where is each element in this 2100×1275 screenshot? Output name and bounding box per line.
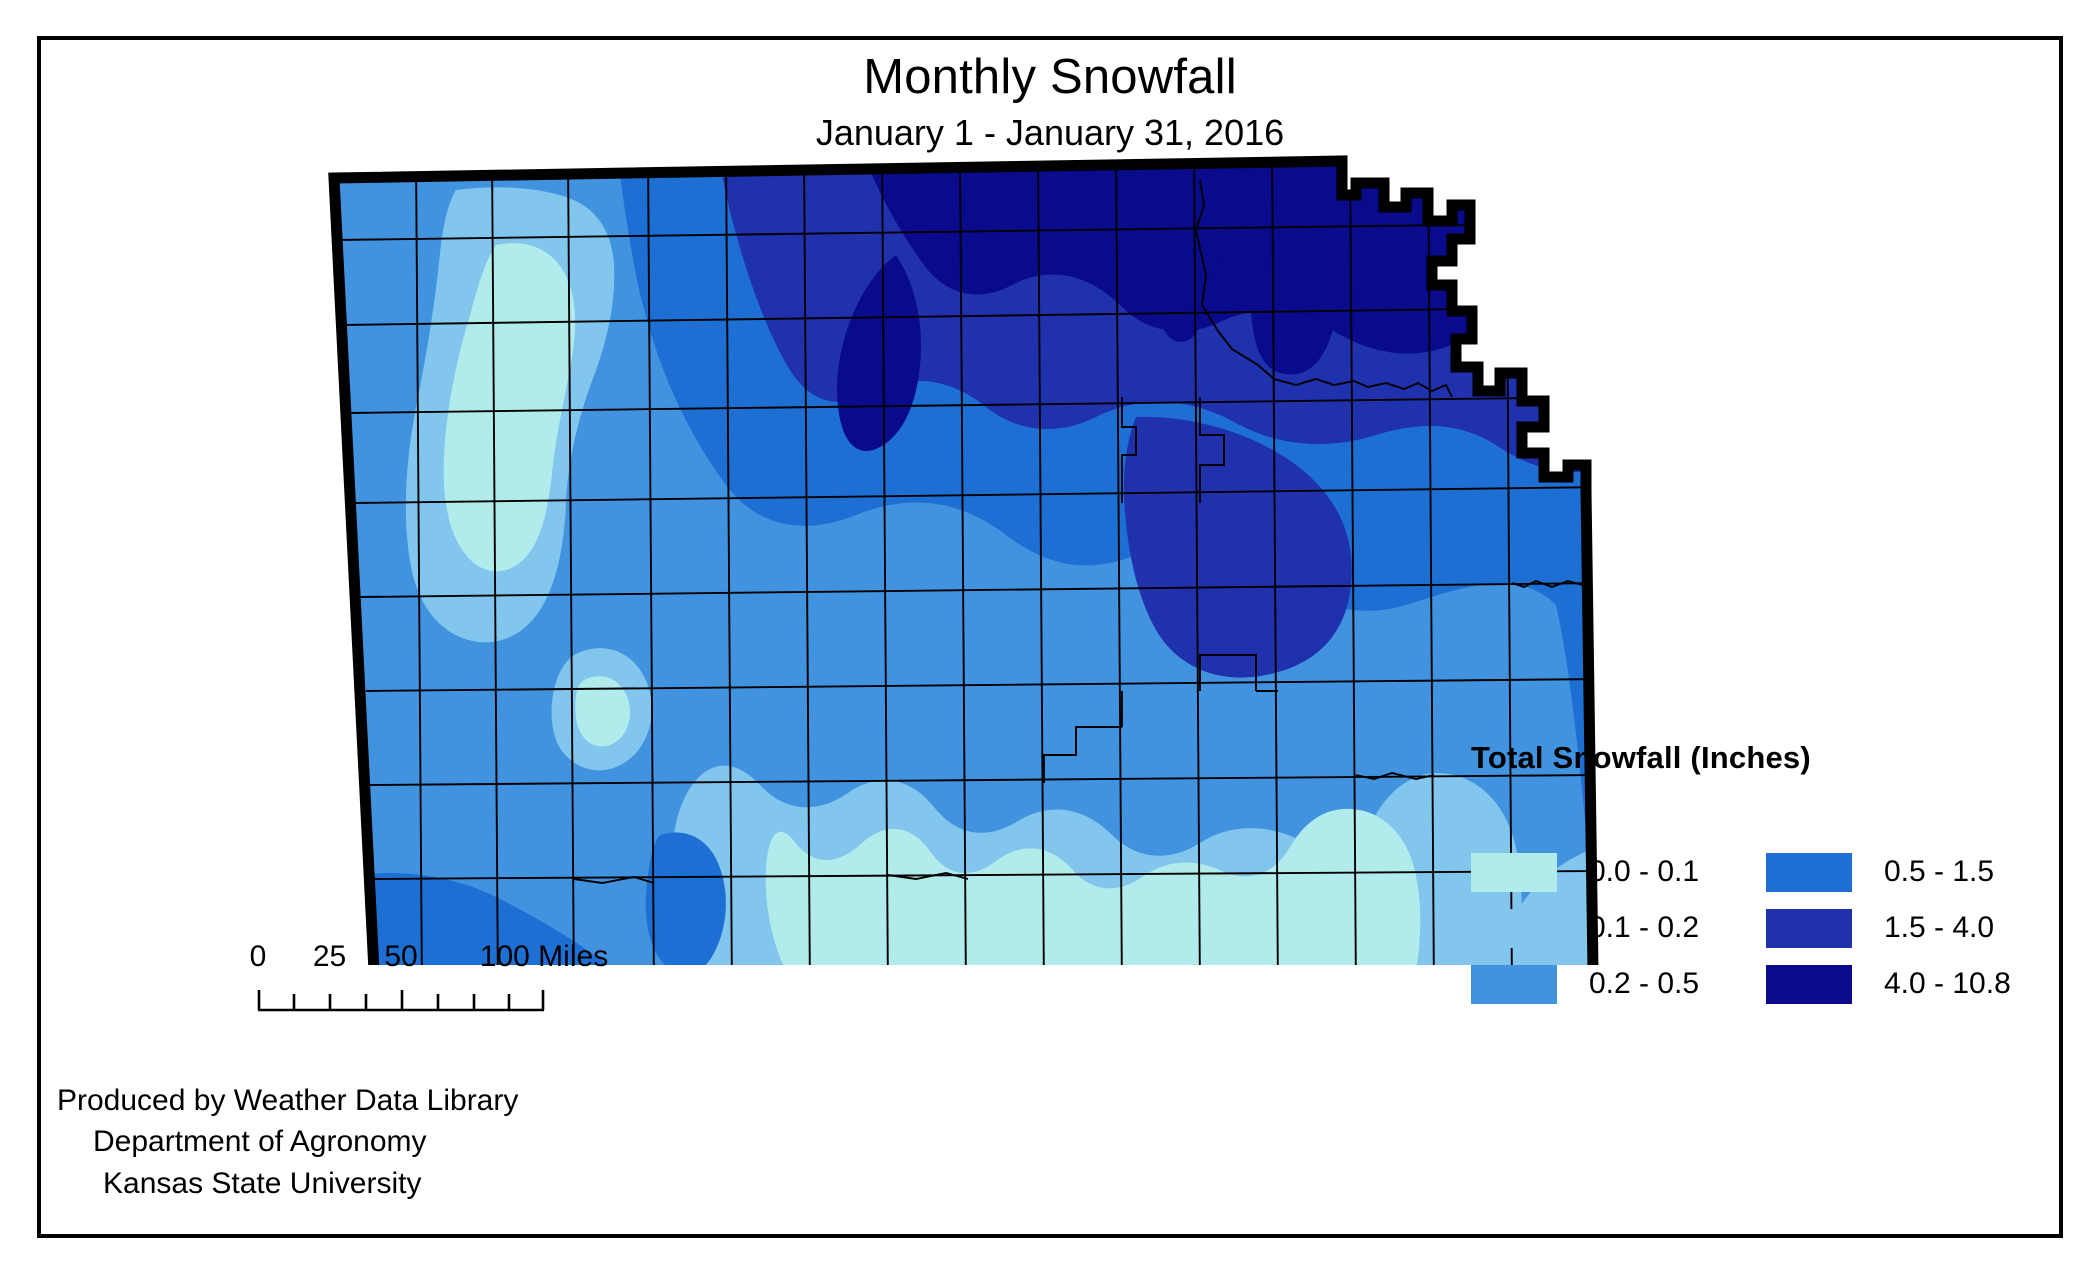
credits-line-1: Produced by Weather Data Library — [41, 1080, 601, 1121]
legend-label-1: 0.1 - 0.2 — [1581, 911, 1766, 945]
contour-band-1.5-4.0-east — [1597, 435, 1736, 785]
scale-bar-rule — [256, 986, 546, 1016]
scale-label-2: 50 — [384, 940, 417, 974]
credits-line-3: Kansas State University — [41, 1163, 601, 1204]
legend-swatch-0 — [1471, 853, 1557, 892]
legend-swatch-3 — [1766, 853, 1852, 892]
scale-bar: 02550100 Miles — [256, 940, 676, 1030]
legend-entries: 0.0 - 0.10.5 - 1.50.1 - 0.21.5 - 4.00.2 … — [1471, 848, 1991, 1008]
legend-swatch-2 — [1471, 965, 1557, 1004]
legend-label-5: 4.0 - 10.8 — [1876, 967, 2011, 1001]
legend-swatch-5 — [1766, 965, 1852, 1004]
page-title: Monthly Snowfall — [41, 52, 2059, 103]
scale-label-3: 100 Miles — [480, 940, 608, 974]
legend-swatch-1 — [1471, 909, 1557, 948]
legend-swatch-4 — [1766, 909, 1852, 948]
legend-label-0: 0.0 - 0.1 — [1581, 855, 1766, 889]
legend-title: Total Snowfall (Inches) — [1471, 740, 1991, 776]
scale-bar-labels: 02550100 Miles — [256, 940, 676, 976]
legend: Total Snowfall (Inches) 0.0 - 0.10.5 - 1… — [1471, 740, 1991, 1008]
legend-label-2: 0.2 - 0.5 — [1581, 967, 1766, 1001]
legend-label-4: 1.5 - 4.0 — [1876, 911, 2011, 945]
legend-label-3: 0.5 - 1.5 — [1876, 855, 2011, 889]
scale-label-1: 25 — [313, 940, 346, 974]
credits-block: Produced by Weather Data Library Departm… — [41, 1080, 601, 1204]
credits-line-2: Department of Agronomy — [41, 1121, 601, 1162]
scale-ticks — [258, 990, 544, 1010]
map-page: Monthly Snowfall January 1 - January 31,… — [37, 36, 2063, 1238]
scale-label-0: 0 — [250, 940, 267, 974]
